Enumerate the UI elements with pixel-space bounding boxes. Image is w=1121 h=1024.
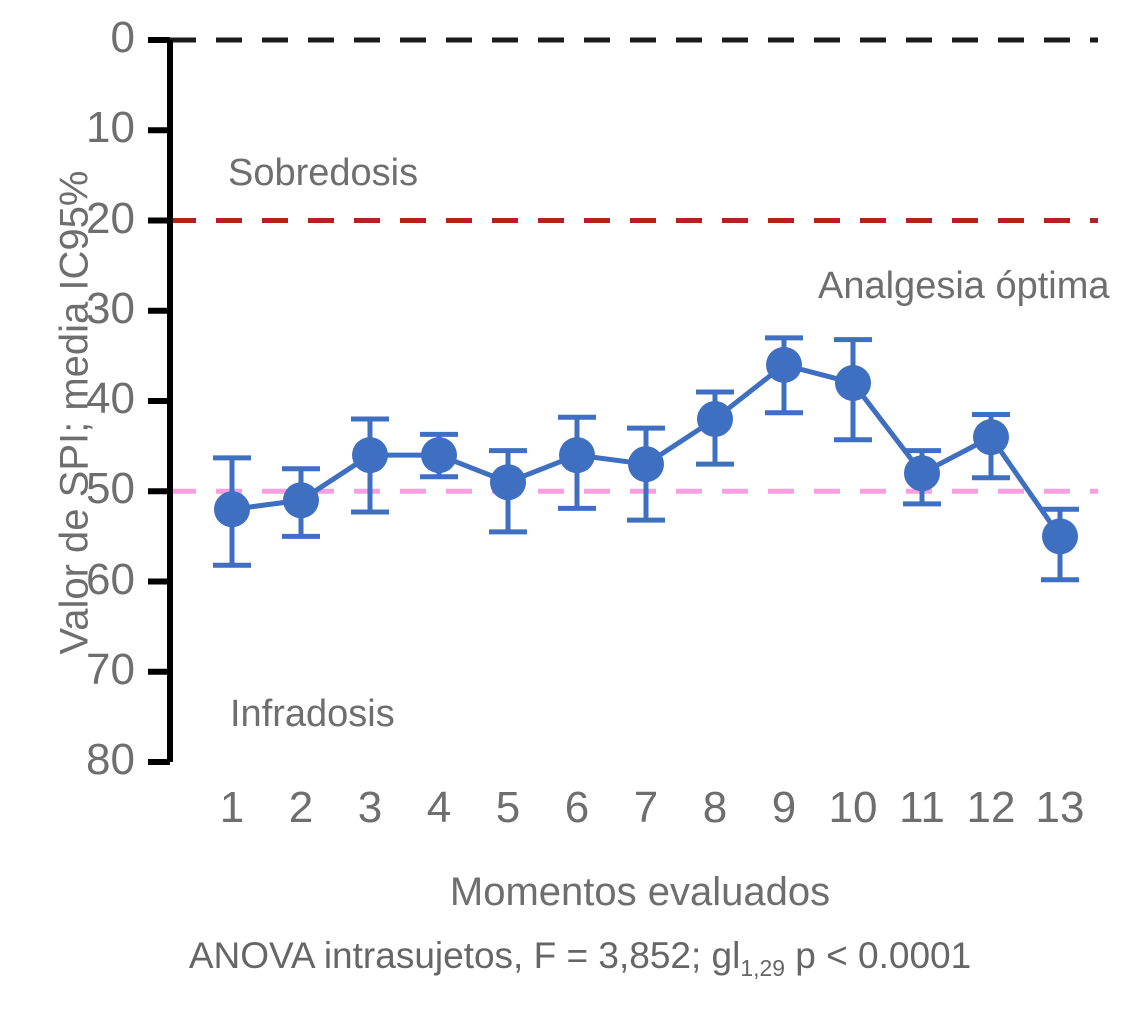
x-tick-label-8: 8 [703,786,727,830]
data-point-7[interactable] [627,428,665,520]
x-tick-label-4: 4 [427,786,451,830]
x-tick-label-13: 13 [1036,786,1085,830]
series-marker [766,347,802,383]
series-marker [973,419,1009,455]
data-point-2[interactable] [282,469,320,537]
x-tick-label-12: 12 [967,786,1016,830]
series-marker [904,455,940,491]
spi-line-chart-figure: Valor de SPI; media IC95% Momentos evalu… [0,0,1121,1024]
underdose-zone-label: Infradosis [230,693,395,736]
x-tick-label-5: 5 [496,786,520,830]
data-point-1[interactable] [213,458,251,565]
x-tick-label-11: 11 [899,786,945,830]
series-marker [559,437,595,473]
overdose-zone-label: Sobredosis [228,152,418,195]
caption-subscript: 1,29 [740,955,785,981]
x-axis-title: Momentos evaluados [180,870,1100,915]
y-tick-label-0: 0 [0,16,135,60]
x-tick-label-3: 3 [358,786,382,830]
optimal-zone-label: Analgesia óptima [818,265,1110,308]
series-marker [697,401,733,437]
data-point-6[interactable] [558,417,596,508]
data-point-4[interactable] [420,434,458,476]
data-point-5[interactable] [489,451,527,532]
data-point-8[interactable] [696,392,734,464]
x-tick-label-2: 2 [289,786,313,830]
series-marker [214,491,250,527]
x-tick-label-6: 6 [565,786,589,830]
x-tick-label-1: 1 [220,786,244,830]
series-marker [835,365,871,401]
series-group [213,338,1079,580]
data-point-10[interactable] [834,340,872,440]
statistics-caption: ANOVA intrasujetos, F = 3,852; gl1,29 p … [60,935,1100,977]
y-tick-label-70: 70 [0,648,135,692]
y-tick-label-50: 50 [0,467,135,511]
caption-prefix: ANOVA intrasujetos, F = 3,852; gl [189,935,741,976]
series-marker [1042,518,1078,554]
series-marker [352,437,388,473]
x-tick-label-10: 10 [829,786,878,830]
y-tick-label-40: 40 [0,377,135,421]
y-tick-label-80: 80 [0,738,135,782]
data-point-3[interactable] [351,419,389,512]
x-tick-label-7: 7 [634,786,658,830]
caption-suffix: p < 0.0001 [785,935,971,976]
y-tick-label-10: 10 [0,106,135,150]
series-marker [283,482,319,518]
y-tick-label-60: 60 [0,558,135,602]
data-point-12[interactable] [972,415,1010,478]
y-tick-label-20: 20 [0,197,135,241]
axes-group [148,40,170,762]
series-marker [421,437,457,473]
x-tick-label-9: 9 [772,786,796,830]
series-marker [490,464,526,500]
series-marker [628,446,664,482]
data-point-9[interactable] [765,338,803,413]
y-tick-label-30: 30 [0,287,135,331]
